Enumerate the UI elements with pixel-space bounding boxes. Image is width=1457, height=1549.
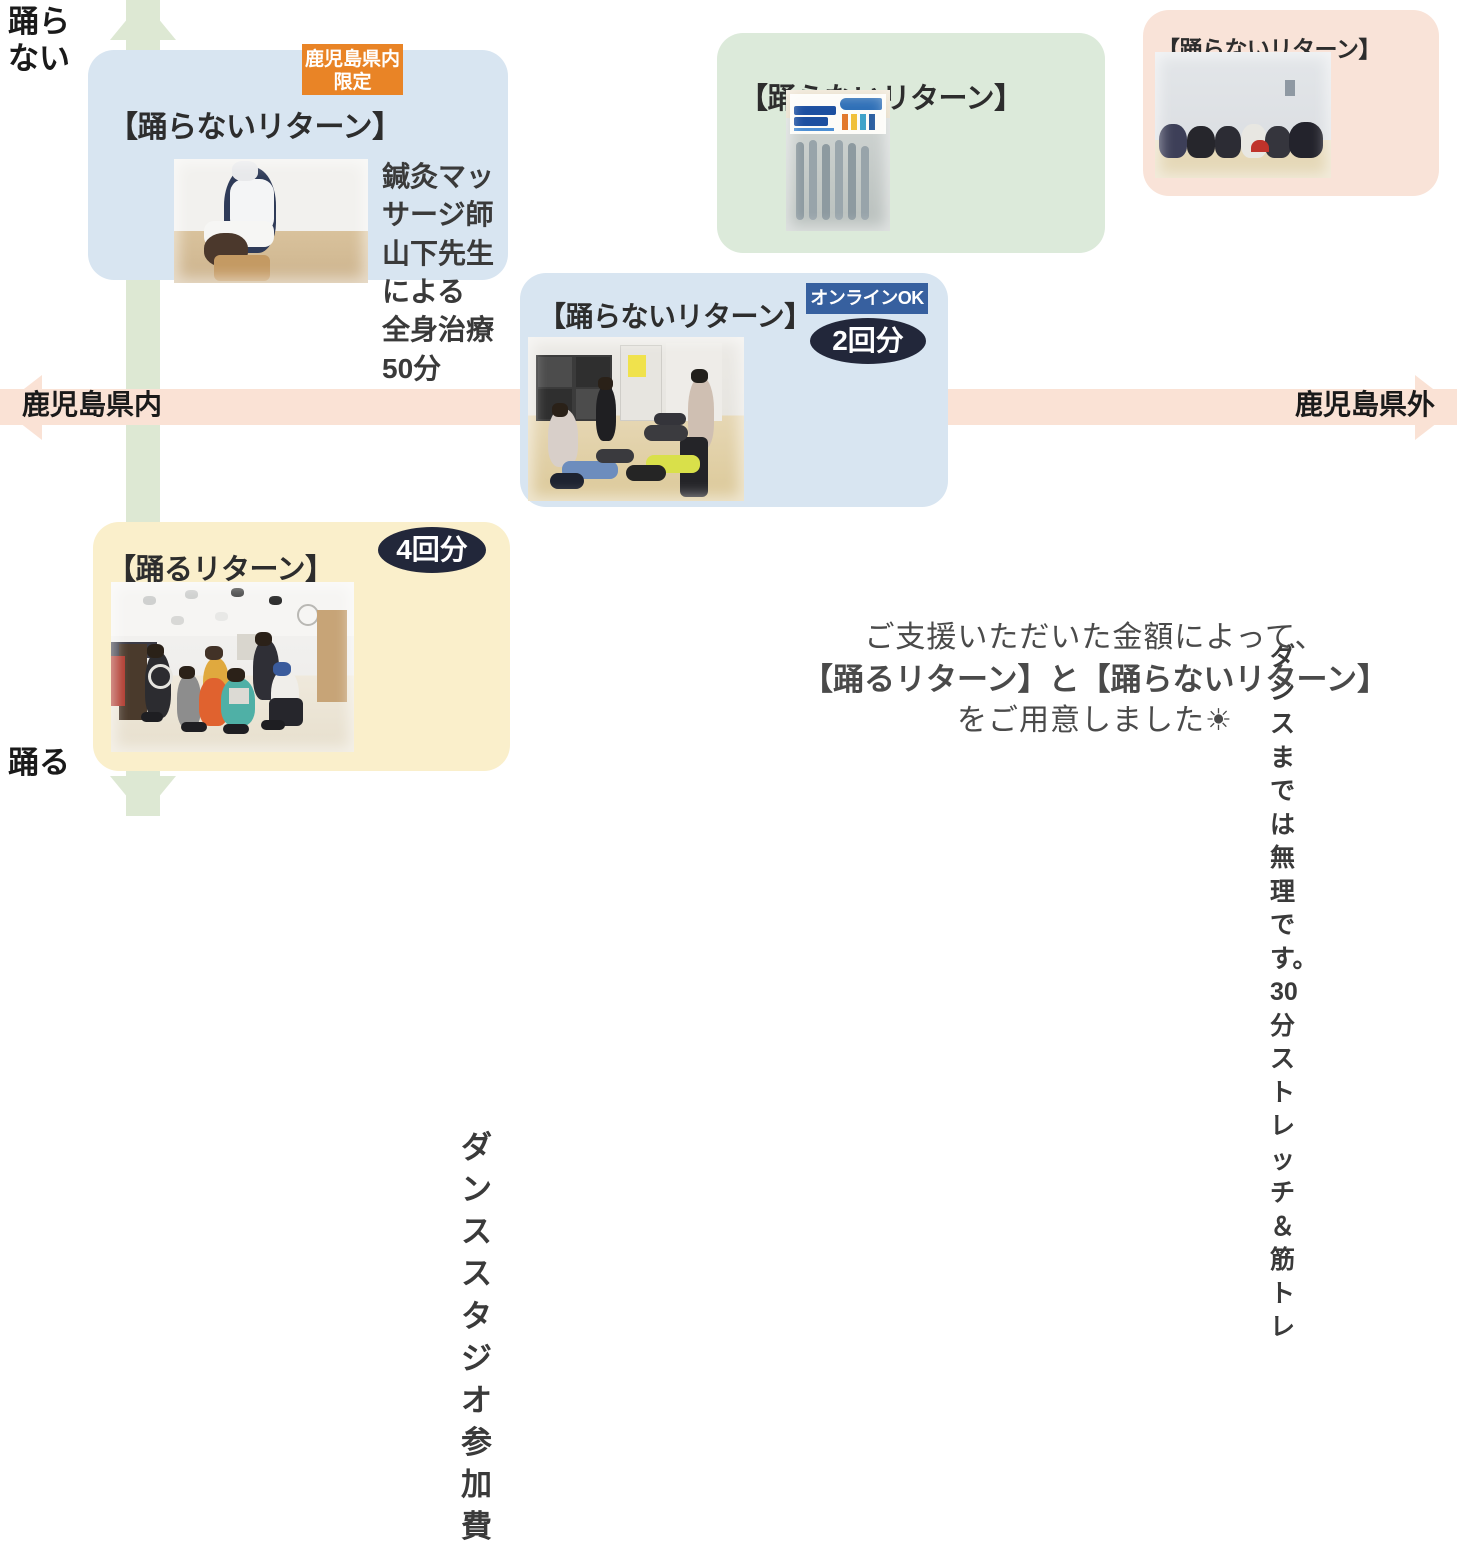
caption-line-1: ご支援いただいた金額によって、 bbox=[745, 618, 1445, 659]
massage-treatment-photo bbox=[174, 159, 368, 283]
quadrant-diagram-canvas: 踊ら ない 踊る 鹿児島県内 鹿児島県外 【踊らないリターン】 鍼灸マッサージ師… bbox=[0, 0, 1457, 816]
card-description-dance: ダンス スタジオ 参加費 bbox=[461, 1127, 510, 1549]
caption-block: ご支援いただいた金額によって、 【踊るリターン】と【踊らないリターン】 をご用意… bbox=[745, 618, 1445, 742]
badge-online-ok: オンラインOK bbox=[806, 283, 928, 314]
harapeko-iwashi-package-photo bbox=[786, 90, 890, 231]
card-description-massage: 鍼灸マッサージ師 山下先生による 全身治療 50分 bbox=[382, 158, 508, 388]
return-card-massage[interactable]: 【踊らないリターン】 鍼灸マッサージ師 山下先生による 全身治療 50分 bbox=[88, 50, 508, 280]
axis-label-bottom: 踊る bbox=[8, 745, 70, 782]
return-card-iwashi[interactable]: 【踊らないリターン】 体動かすの 無理です。 鹿児島の味 bbox=[717, 33, 1105, 253]
vertical-axis-arrowhead-up bbox=[110, 0, 176, 40]
group-bowing-photo bbox=[1155, 52, 1331, 178]
count-pill-2times: 2回分 bbox=[810, 318, 926, 364]
axis-label-right: 鹿児島県外 bbox=[1295, 388, 1435, 421]
caption-line-3: をご用意しました☀ bbox=[745, 701, 1445, 742]
badge-kagoshima-only: 鹿児島県内 限定 bbox=[302, 44, 403, 95]
vertical-axis-arrowhead-down bbox=[110, 776, 176, 816]
dance-studio-group-photo bbox=[111, 582, 354, 752]
count-pill-4times: 4回分 bbox=[378, 527, 486, 573]
studio-stretch-class-photo bbox=[528, 337, 744, 501]
axis-label-left: 鹿児島県内 bbox=[22, 388, 162, 421]
card-description-stretch: ダンスまでは 無理です。 30分ストレッチ ＆筋トレ bbox=[1270, 641, 1318, 1345]
card-title-massage: 【踊らないリターン】 bbox=[108, 102, 402, 146]
caption-line-2: 【踊るリターン】と【踊らないリターン】 bbox=[745, 659, 1445, 701]
card-title-stretch: 【踊らないリターン】 bbox=[538, 295, 812, 335]
axis-label-top: 踊ら ない bbox=[8, 4, 70, 77]
